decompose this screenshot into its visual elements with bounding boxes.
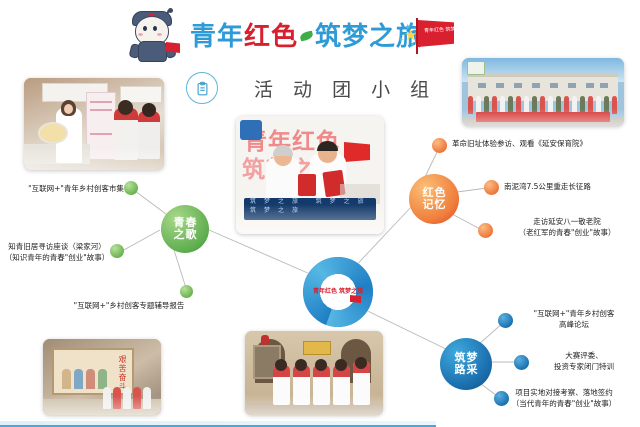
branch-char: 采 (467, 364, 478, 376)
center-node-label: 青年红色 筑梦之旅 (313, 288, 363, 296)
branch-node-green[interactable]: 青 春 之 歌 (161, 205, 209, 253)
leaf-dot-green-2[interactable] (110, 244, 124, 258)
leaf-label-orange-3: 走访延安八一敬老院 （老红军的青春"创业"故事） (496, 216, 638, 238)
leaf-dot-orange-2[interactable] (484, 180, 499, 195)
leaf-dot-green-3[interactable] (180, 285, 193, 298)
leaf-label-green-3: "互联网+"乡村创客专题辅导报告 (64, 300, 194, 311)
branch-char: 记 (423, 199, 434, 211)
leaf-dot-blue-2[interactable] (514, 355, 529, 370)
leaf-label-blue-2: 大赛评委、 投资专家闭门特训 (530, 350, 638, 372)
leaf-label-blue-1: "互联网+"青年乡村创客 高峰论坛 (512, 308, 636, 330)
branch-char: 歌 (186, 229, 197, 241)
branch-char: 路 (455, 364, 466, 376)
branch-node-blue[interactable]: 筑 梦 路 采 (440, 338, 492, 390)
leaf-label-orange-1: 革命旧址体验参访、观看《延安保育院》 (452, 138, 638, 149)
branch-char: 之 (174, 229, 185, 241)
photo-market (24, 78, 164, 170)
branch-node-green-label: 青 春 之 歌 (174, 217, 197, 240)
branch-char: 忆 (435, 199, 446, 211)
photo-group (462, 58, 624, 126)
leaf-dot-blue-1[interactable] (498, 313, 513, 328)
branch-node-orange-label: 红 色 记 忆 (423, 187, 446, 210)
photo-mural: 艰苦奋斗 (43, 339, 161, 415)
branch-node-orange[interactable]: 红 色 记 忆 (409, 174, 459, 224)
leaf-label-green-1: "互联网+"青年乡村创客市集 (18, 183, 134, 194)
branch-node-blue-label: 筑 梦 路 采 (455, 352, 478, 375)
slide-canvas: 青年红色筑梦之旅 ✦ ✦ ✦ ★ 青年红色 筑梦之旅 活 动 团 小 组 (0, 0, 640, 427)
leaf-label-orange-2: 南泥湾7.5公里重走长征路 (504, 181, 640, 192)
photo-cave (245, 331, 383, 415)
leaf-label-green-2: 知青旧居寻访座谈（梁家河） （知识青年的青春"创业"故事） (4, 241, 110, 263)
leaf-dot-orange-1[interactable] (432, 138, 447, 153)
leaf-dot-orange-3[interactable] (478, 223, 493, 238)
leaf-label-blue-3: 项目实地对接考察、落地签约 （当代青年的青春"创业"故事） (490, 387, 638, 409)
red-flag-icon (350, 295, 361, 303)
photo-signing: 青年红色 筑梦之旅 筑梦之旅 筑梦之旅 筑梦之旅 (236, 116, 384, 234)
center-node[interactable]: 青年红色 筑梦之旅 (303, 257, 373, 327)
